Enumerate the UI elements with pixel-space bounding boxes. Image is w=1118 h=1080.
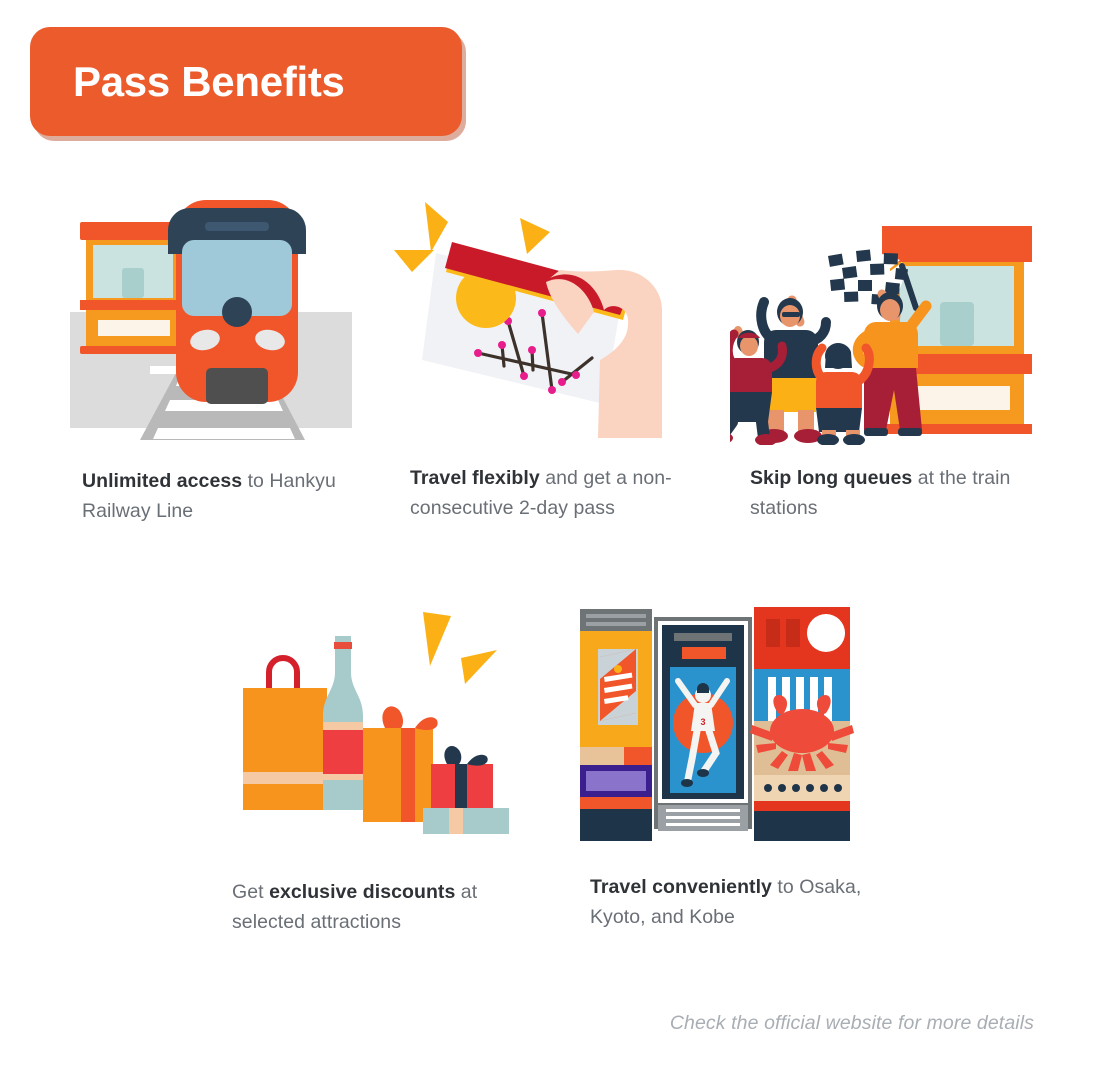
benefit-card-travel-conveniently: 3 [570,595,870,932]
svg-text:3: 3 [700,717,705,727]
infographic-page: Pass Benefits [0,0,1118,1080]
benefit-card-skip-queues: Skip long queues at the train stations [730,190,1030,523]
benefit-caption: Get exclusive discounts at selected attr… [232,877,522,937]
benefit-card-exclusive-discounts: Get exclusive discounts at selected attr… [225,600,525,937]
benefit-bold-text: Unlimited access [82,470,242,492]
page-title: Pass Benefits [30,58,345,106]
people-celebrating-ticket-booth-icon [730,190,1030,445]
benefit-caption: Unlimited access to Hankyu Railway Line [82,466,362,526]
train-station-icon [62,190,362,448]
benefit-bold-text: Travel flexibly [410,467,540,489]
benefit-caption: Skip long queues at the train stations [750,463,1040,523]
benefit-card-unlimited-access: Unlimited access to Hankyu Railway Line [62,190,362,526]
benefit-card-travel-flexibly: Travel flexibly and get a non-consecutiv… [390,190,690,523]
osaka-billboards-icon: 3 [570,595,870,850]
benefit-lead-text: Get [232,881,269,903]
benefit-caption: Travel conveniently to Osaka, Kyoto, and… [590,872,880,932]
benefit-bold-text: Travel conveniently [590,876,772,898]
benefit-bold-text: Skip long queues [750,467,912,489]
benefit-caption: Travel flexibly and get a non-consecutiv… [410,463,695,523]
page-title-banner: Pass Benefits [30,27,462,136]
hand-holding-pass-icon [390,190,690,445]
footer-note: Check the official website for more deta… [670,1012,1034,1035]
benefit-bold-text: exclusive discounts [269,881,455,903]
shopping-gifts-icon [225,600,525,855]
